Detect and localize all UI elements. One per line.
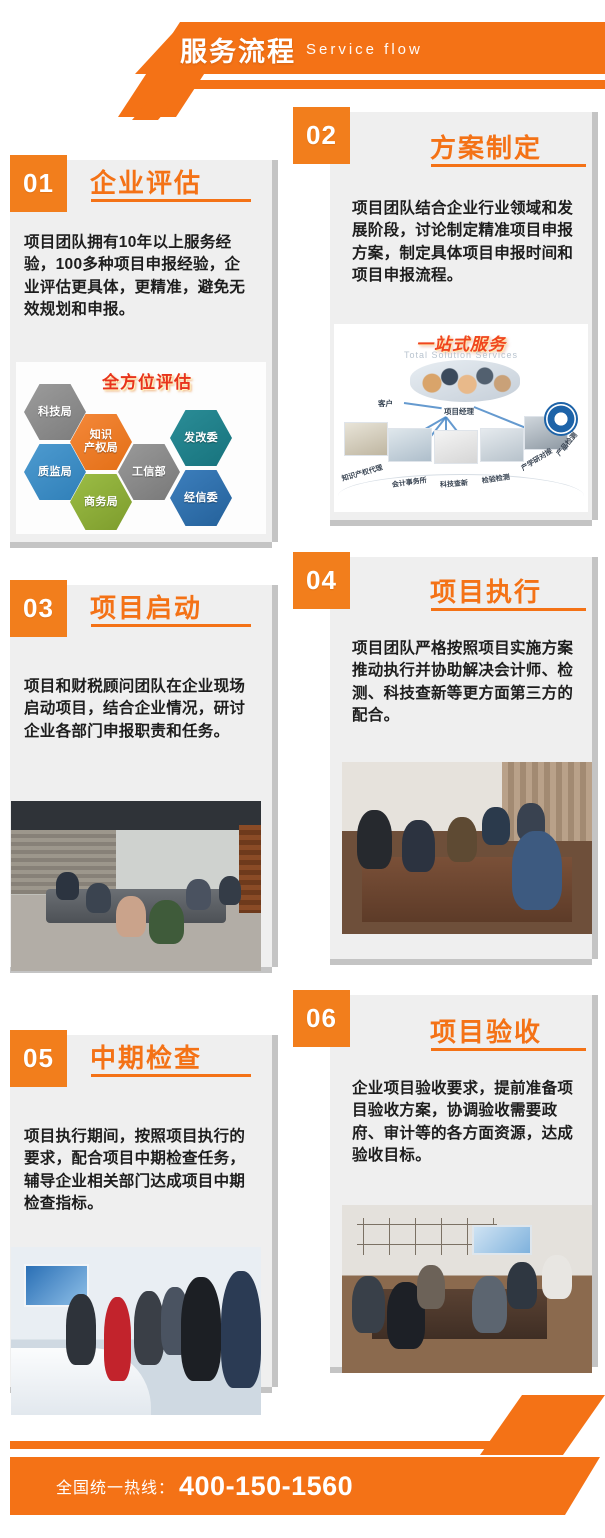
photo-person <box>357 810 392 868</box>
photo-person <box>219 876 242 905</box>
photo-person <box>56 872 79 899</box>
header-stripe <box>145 80 605 89</box>
card-06-number-badge: 06 <box>293 990 350 1047</box>
photo-person <box>104 1297 132 1381</box>
card-04-title-rule <box>431 608 586 611</box>
card-05-description: 项目执行期间，按照项目执行的要求，配合项目中期检查任务，辅导企业相关部门达成项目… <box>24 1126 252 1216</box>
card-06-description: 企业项目验收要求，提前准备项目验收方案，协调验收需要政府、审计等的各方面资源，达… <box>352 1078 584 1168</box>
card-03-description: 项目和财税顾问团队在企业现场启动项目，结合企业情况，研讨企业各部门申报职责和任务… <box>24 676 252 743</box>
card-05-title-rule <box>91 1074 251 1077</box>
card-03-title: 项目启动 <box>90 588 202 625</box>
photo-person <box>507 1262 537 1309</box>
photo-person <box>482 807 510 845</box>
card-04-title: 项目执行 <box>430 572 542 609</box>
hexagon-evaluation-diagram: 全方位评估 科技局 知识产权局 质监局 商务局 工信部 发改委 经信委 <box>16 362 266 534</box>
page-title: 服务流程 <box>180 30 296 69</box>
card-03-title-rule <box>91 624 251 627</box>
card-01-number-badge: 01 <box>10 155 67 212</box>
photo-person <box>181 1277 221 1381</box>
hex-node-fagaiwei: 发改委 <box>170 410 232 466</box>
service-node-label-3: 科技查新 <box>440 478 469 490</box>
photo-person <box>352 1276 385 1333</box>
photo-person <box>472 1276 507 1333</box>
service-node-4-img <box>480 428 524 462</box>
card-02-title-rule <box>431 164 586 167</box>
card-02-number-badge: 02 <box>293 107 350 164</box>
service-node-label-5: 产学研对接 <box>519 446 554 473</box>
card-02-title: 方案制定 <box>430 128 542 165</box>
photo-person <box>402 820 435 872</box>
photo-person <box>66 1294 96 1365</box>
card-03-number-badge: 03 <box>10 580 67 637</box>
service-node-2-img <box>388 428 432 462</box>
hex-node-jingxinwei: 经信委 <box>170 470 232 526</box>
card-06-title-rule <box>431 1048 586 1051</box>
card-06-title: 项目验收 <box>430 1012 542 1049</box>
footer-stripe <box>10 1441 476 1449</box>
hotline-number[interactable]: 400-150-1560 <box>179 1471 353 1502</box>
boardroom-acceptance-photo <box>342 1205 592 1373</box>
infographic-page: 服务流程 Service flow 01 企业评估 项目团队拥有10年以上服务经… <box>0 0 605 1538</box>
hex-node-gongxinbu: 工信部 <box>118 444 180 500</box>
photo-person <box>134 1291 164 1365</box>
page-header: 服务流程 Service flow <box>0 0 605 120</box>
site-visit-lobby-photo <box>11 1247 261 1415</box>
hexagon-diagram-title: 全方位评估 <box>102 368 192 393</box>
card-04-number-badge: 04 <box>293 552 350 609</box>
header-title-group: 服务流程 Service flow <box>180 26 580 72</box>
photo-person <box>186 879 211 910</box>
service-manager-label: 项目经理 <box>444 406 474 417</box>
photo-person <box>542 1255 572 1299</box>
footer-stripe-slant <box>470 1441 530 1449</box>
photo-person <box>447 817 477 862</box>
card-04-description: 项目团队严格按照项目实施方案推动执行并协助解决会计师、检测、科技查新等更方面第三… <box>352 638 584 728</box>
photo-person <box>512 831 562 910</box>
service-arrow-6 <box>474 406 529 430</box>
service-diagram-subtitle: Total Solution Services <box>404 350 518 360</box>
page-subtitle: Service flow <box>306 41 423 58</box>
photo-person <box>221 1271 261 1389</box>
hotline-label: 全国统一热线： <box>56 1474 175 1498</box>
footer-hotline-group: 全国统一热线： 400-150-1560 <box>56 1457 353 1515</box>
card-05-number-badge: 05 <box>10 1030 67 1087</box>
meeting-laptops-photo <box>342 762 592 934</box>
photo-curtain <box>502 762 592 841</box>
card-02-description: 项目团队结合企业行业领域和发展阶段，讨论制定精准项目申报方案，制定具体项目申报时… <box>352 198 584 288</box>
photo-person <box>86 883 111 914</box>
photo-person <box>149 900 184 944</box>
photo-person <box>116 896 146 937</box>
one-stop-service-diagram: 一站式服务 Total Solution Services 客户 项目经理 知识… <box>334 324 588 512</box>
service-hub-photo <box>410 360 520 402</box>
service-client-label: 客户 <box>378 398 393 409</box>
card-01-title-rule <box>91 199 251 202</box>
service-arrow-1 <box>404 402 442 409</box>
card-01-title: 企业评估 <box>90 163 202 200</box>
conference-room-photo <box>11 801 261 971</box>
card-01-description: 项目团队拥有10年以上服务经验，100多种项目申报经验，企业评估更具体，更精准，… <box>24 232 252 322</box>
photo-person <box>417 1265 445 1309</box>
service-node-3-img <box>434 430 478 464</box>
photo-projection-screen <box>472 1225 532 1255</box>
service-node-1-img <box>344 422 388 456</box>
card-05-title: 中期检查 <box>90 1038 202 1075</box>
footer-bar-tail <box>455 1457 600 1515</box>
